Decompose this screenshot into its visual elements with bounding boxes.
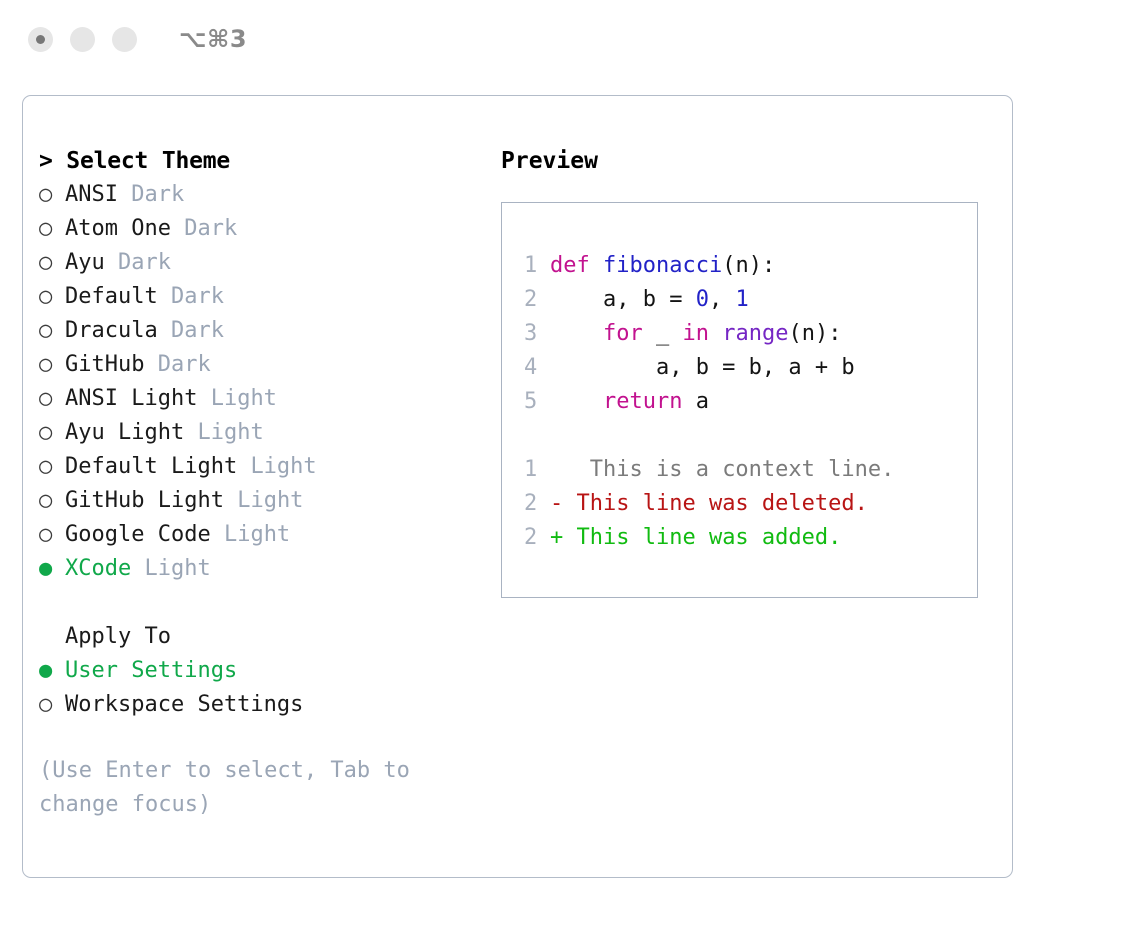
code-token-plain [550, 321, 603, 346]
diff-text: This line was deleted. [563, 491, 868, 516]
select-theme-heading: > Select Theme [39, 144, 479, 178]
theme-option-google-code[interactable]: ○Google Code Light [39, 518, 479, 552]
code-token-plain: (n): [788, 321, 841, 346]
close-button[interactable] [28, 27, 53, 52]
theme-name-label: Dracula [65, 318, 158, 343]
diff-sign: + [550, 525, 563, 550]
radio-unselected-icon: ○ [39, 518, 65, 552]
diff-line-add: 2+ This line was added. [502, 521, 977, 555]
diff-sign [550, 457, 563, 482]
theme-selection-column: > Select Theme ○ANSI Dark○Atom One Dark○… [39, 144, 479, 822]
theme-option-github[interactable]: ○GitHub Dark [39, 348, 479, 382]
code-line-number: 3 [524, 317, 550, 351]
content-panel: > Select Theme ○ANSI Dark○Atom One Dark○… [22, 95, 1013, 878]
radio-unselected-icon: ○ [39, 246, 65, 280]
apply-to-heading: Apply To [65, 624, 171, 649]
diff-line-number: 2 [524, 521, 550, 555]
label-spacer [131, 556, 144, 581]
code-token-num: 0 [696, 287, 709, 312]
theme-kind-label: Dark [118, 250, 171, 275]
radio-unselected-icon: ○ [39, 178, 65, 212]
radio-unselected-icon: ○ [39, 314, 65, 348]
theme-name-label: Atom One [65, 216, 171, 241]
theme-option-dracula[interactable]: ○Dracula Dark [39, 314, 479, 348]
theme-name-label: GitHub Light [65, 488, 224, 513]
theme-name-label: Google Code [65, 522, 211, 547]
code-sample: 1def fibonacci(n):2 a, b = 0, 13 for _ i… [502, 249, 977, 419]
diff-line-number: 1 [524, 453, 550, 487]
theme-option-ayu[interactable]: ○Ayu Dark [39, 246, 479, 280]
theme-kind-label: Dark [171, 284, 224, 309]
apply-to-heading-indent: ○ [39, 620, 65, 654]
radio-unselected-icon: ○ [39, 212, 65, 246]
theme-kind-label: Light [211, 386, 277, 411]
radio-unselected-icon: ○ [39, 450, 65, 484]
code-token-plain: , [709, 287, 736, 312]
code-token-plain: a, b = [550, 287, 696, 312]
theme-name-label: Default Light [65, 454, 237, 479]
diff-sample: 1 This is a context line.2- This line wa… [502, 453, 977, 555]
preview-box: 1def fibonacci(n):2 a, b = 0, 13 for _ i… [501, 202, 978, 598]
terminal-window: ⌥⌘3 > Select Theme ○ANSI Dark○Atom One D… [0, 0, 1140, 934]
label-spacer [237, 454, 250, 479]
label-spacer [158, 284, 171, 309]
code-token-kw: in [682, 321, 709, 346]
theme-option-list: ○ANSI Dark○Atom One Dark○Ayu Dark○Defaul… [39, 178, 479, 586]
theme-option-default-light[interactable]: ○Default Light Light [39, 450, 479, 484]
code-line: 4 a, b = b, a + b [502, 351, 977, 385]
code-line-number: 5 [524, 385, 550, 419]
diff-line-number: 2 [524, 487, 550, 521]
code-token-plain [550, 389, 603, 414]
code-token-plain: a [682, 389, 709, 414]
theme-name-label: Ayu Light [65, 420, 184, 445]
radio-unselected-icon: ○ [39, 484, 65, 518]
label-spacer [105, 250, 118, 275]
theme-option-ayu-light[interactable]: ○Ayu Light Light [39, 416, 479, 450]
label-spacer [197, 386, 210, 411]
diff-text: This is a context line. [563, 457, 894, 482]
code-token-plain: _ [643, 321, 683, 346]
code-token-plain: a, b = b, a + b [550, 355, 855, 380]
diff-line-ctx: 1 This is a context line. [502, 453, 977, 487]
theme-name-label: GitHub [65, 352, 144, 377]
theme-kind-label: Light [237, 488, 303, 513]
minimize-button[interactable] [70, 27, 95, 52]
code-line: 3 for _ in range(n): [502, 317, 977, 351]
radio-unselected-icon: ○ [39, 280, 65, 314]
theme-option-xcode[interactable]: ●XCode Light [39, 552, 479, 586]
code-token-fn: fibonacci [603, 253, 722, 278]
theme-name-label: ANSI [65, 182, 118, 207]
theme-name-label: ANSI Light [65, 386, 197, 411]
theme-kind-label: Light [144, 556, 210, 581]
list-spacer [39, 586, 479, 620]
label-spacer [211, 522, 224, 547]
radio-selected-icon: ● [39, 654, 65, 688]
radio-selected-icon: ● [39, 552, 65, 586]
apply-to-option-list: ●User Settings○Workspace Settings [39, 654, 479, 722]
theme-option-ansi-light[interactable]: ○ANSI Light Light [39, 382, 479, 416]
radio-unselected-icon: ○ [39, 688, 65, 722]
label-spacer [158, 318, 171, 343]
keyboard-hint-text: (Use Enter to select, Tab to change focu… [39, 754, 449, 822]
theme-kind-label: Light [197, 420, 263, 445]
apply-to-option-user-settings[interactable]: ●User Settings [39, 654, 479, 688]
code-line: 1def fibonacci(n): [502, 249, 977, 283]
code-line-number: 1 [524, 249, 550, 283]
apply-to-heading-row: ○Apply To [39, 620, 479, 654]
preview-column: Preview 1def fibonacci(n):2 a, b = 0, 13… [501, 144, 1001, 598]
code-token-plain: (n): [722, 253, 775, 278]
theme-kind-label: Dark [171, 318, 224, 343]
code-diff-separator [502, 419, 977, 453]
window-titlebar: ⌥⌘3 [0, 0, 1140, 78]
apply-to-option-workspace-settings[interactable]: ○Workspace Settings [39, 688, 479, 722]
theme-option-ansi[interactable]: ○ANSI Dark [39, 178, 479, 212]
code-token-kw: def [550, 253, 603, 278]
theme-option-atom-one[interactable]: ○Atom One Dark [39, 212, 479, 246]
theme-name-label: Ayu [65, 250, 105, 275]
code-line-number: 2 [524, 283, 550, 317]
label-spacer [171, 216, 184, 241]
theme-kind-label: Dark [158, 352, 211, 377]
label-spacer [118, 182, 131, 207]
traffic-light-controls [28, 27, 137, 52]
apply-to-option-label: User Settings [65, 658, 237, 683]
theme-kind-label: Light [224, 522, 290, 547]
code-token-kw: return [603, 389, 682, 414]
radio-unselected-icon: ○ [39, 416, 65, 450]
keyboard-shortcut-label: ⌥⌘3 [179, 25, 247, 53]
label-spacer [224, 488, 237, 513]
theme-option-github-light[interactable]: ○GitHub Light Light [39, 484, 479, 518]
diff-line-del: 2- This line was deleted. [502, 487, 977, 521]
radio-unselected-icon: ○ [39, 348, 65, 382]
maximize-button[interactable] [112, 27, 137, 52]
diff-sign: - [550, 491, 563, 516]
theme-kind-label: Dark [184, 216, 237, 241]
theme-option-default[interactable]: ○Default Dark [39, 280, 479, 314]
apply-to-option-label: Workspace Settings [65, 692, 303, 717]
theme-name-label: XCode [65, 556, 131, 581]
code-line-number: 4 [524, 351, 550, 385]
label-spacer [144, 352, 157, 377]
preview-heading: Preview [501, 144, 1001, 178]
code-line: 2 a, b = 0, 1 [502, 283, 977, 317]
code-token-plain [709, 321, 722, 346]
radio-unselected-icon: ○ [39, 382, 65, 416]
diff-text: This line was added. [563, 525, 841, 550]
theme-kind-label: Dark [131, 182, 184, 207]
theme-name-label: Default [65, 284, 158, 309]
code-token-kw: for [603, 321, 643, 346]
code-token-num: 1 [735, 287, 748, 312]
label-spacer [184, 420, 197, 445]
code-line: 5 return a [502, 385, 977, 419]
theme-kind-label: Light [250, 454, 316, 479]
code-token-builtin: range [722, 321, 788, 346]
active-indicator-dot [36, 35, 45, 44]
